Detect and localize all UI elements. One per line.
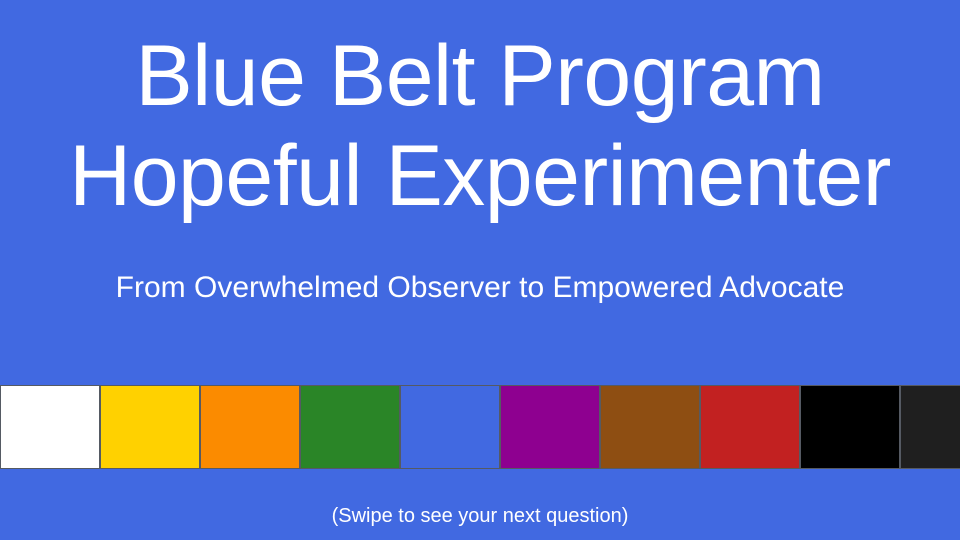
belt-swatch-black-belt <box>800 385 900 469</box>
page-title: Blue Belt Program Hopeful Experimenter <box>0 26 960 226</box>
belt-swatch-orange-belt <box>200 385 300 469</box>
belt-swatch-dark-gray-belt <box>900 385 960 469</box>
slide-canvas: Blue Belt Program Hopeful Experimenter F… <box>0 0 960 540</box>
swipe-hint-text: (Swipe to see your next question) <box>0 503 960 529</box>
belt-swatch-green-belt <box>300 385 400 469</box>
belt-swatch-white-belt <box>0 385 100 469</box>
title-line-2: Hopeful Experimenter <box>0 126 960 226</box>
belt-progress-strip <box>0 385 960 469</box>
subtitle-text: From Overwhelmed Observer to Empowered A… <box>0 270 960 306</box>
belt-swatch-brown-belt <box>600 385 700 469</box>
belt-swatch-red-belt <box>700 385 800 469</box>
title-line-1: Blue Belt Program <box>0 26 960 126</box>
belt-swatch-blue-belt <box>400 385 500 469</box>
belt-swatch-yellow-belt <box>100 385 200 469</box>
belt-swatch-purple-belt <box>500 385 600 469</box>
